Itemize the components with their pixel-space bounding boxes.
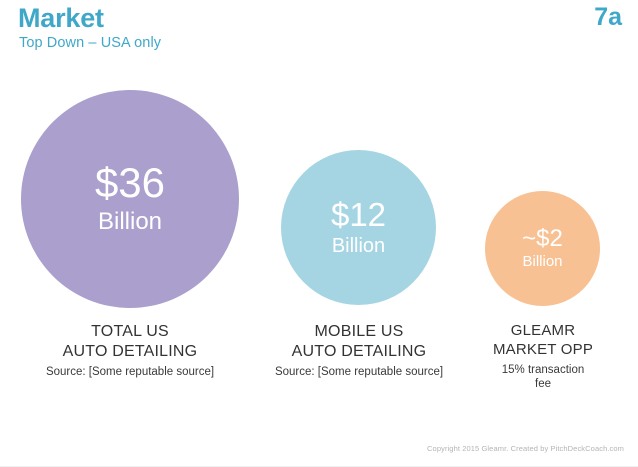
bubble-amount: $12 xyxy=(331,198,386,231)
bubble-mobile-us-auto-detailing: $12 Billion xyxy=(281,150,436,305)
bubble-unit: Billion xyxy=(332,235,385,257)
bubble-amount: ~$2 xyxy=(522,227,563,251)
caption-line-1: GLEAMR xyxy=(468,322,618,341)
bubble-amount: $36 xyxy=(95,162,165,204)
page-subtitle: Top Down – USA only xyxy=(19,35,161,52)
bubble-gleamr-market-opp: ~$2 Billion xyxy=(485,191,600,306)
slide-number: 7a xyxy=(594,4,622,32)
page-title: Market xyxy=(18,4,104,34)
bubble-unit: Billion xyxy=(98,209,162,235)
bubble-unit: Billion xyxy=(522,254,562,271)
bubble-total-us-auto-detailing: $36 Billion xyxy=(21,90,239,308)
footer-copyright: Copyright 2015 Gleamr. Created by PitchD… xyxy=(427,444,624,453)
caption-note-line-2: fee xyxy=(468,377,618,391)
caption-line-2: AUTO DETAILING xyxy=(10,342,250,362)
caption-line-1: MOBILE US xyxy=(258,322,460,342)
caption-line-2: AUTO DETAILING xyxy=(258,342,460,362)
caption-mobile-us-auto-detailing: MOBILE US AUTO DETAILING Source: [Some r… xyxy=(258,322,460,379)
slide-canvas: Market Top Down – USA only 7a $36 Billio… xyxy=(0,0,638,467)
caption-note-line-1: 15% transaction xyxy=(468,363,618,377)
caption-source-note: Source: [Some reputable source] xyxy=(258,365,460,379)
caption-line-1: TOTAL US xyxy=(10,322,250,342)
caption-line-2: MARKET OPP xyxy=(468,341,618,360)
caption-total-us-auto-detailing: TOTAL US AUTO DETAILING Source: [Some re… xyxy=(10,322,250,379)
caption-gleamr-market-opp: GLEAMR MARKET OPP 15% transaction fee xyxy=(468,322,618,391)
caption-source-note: Source: [Some reputable source] xyxy=(10,365,250,379)
